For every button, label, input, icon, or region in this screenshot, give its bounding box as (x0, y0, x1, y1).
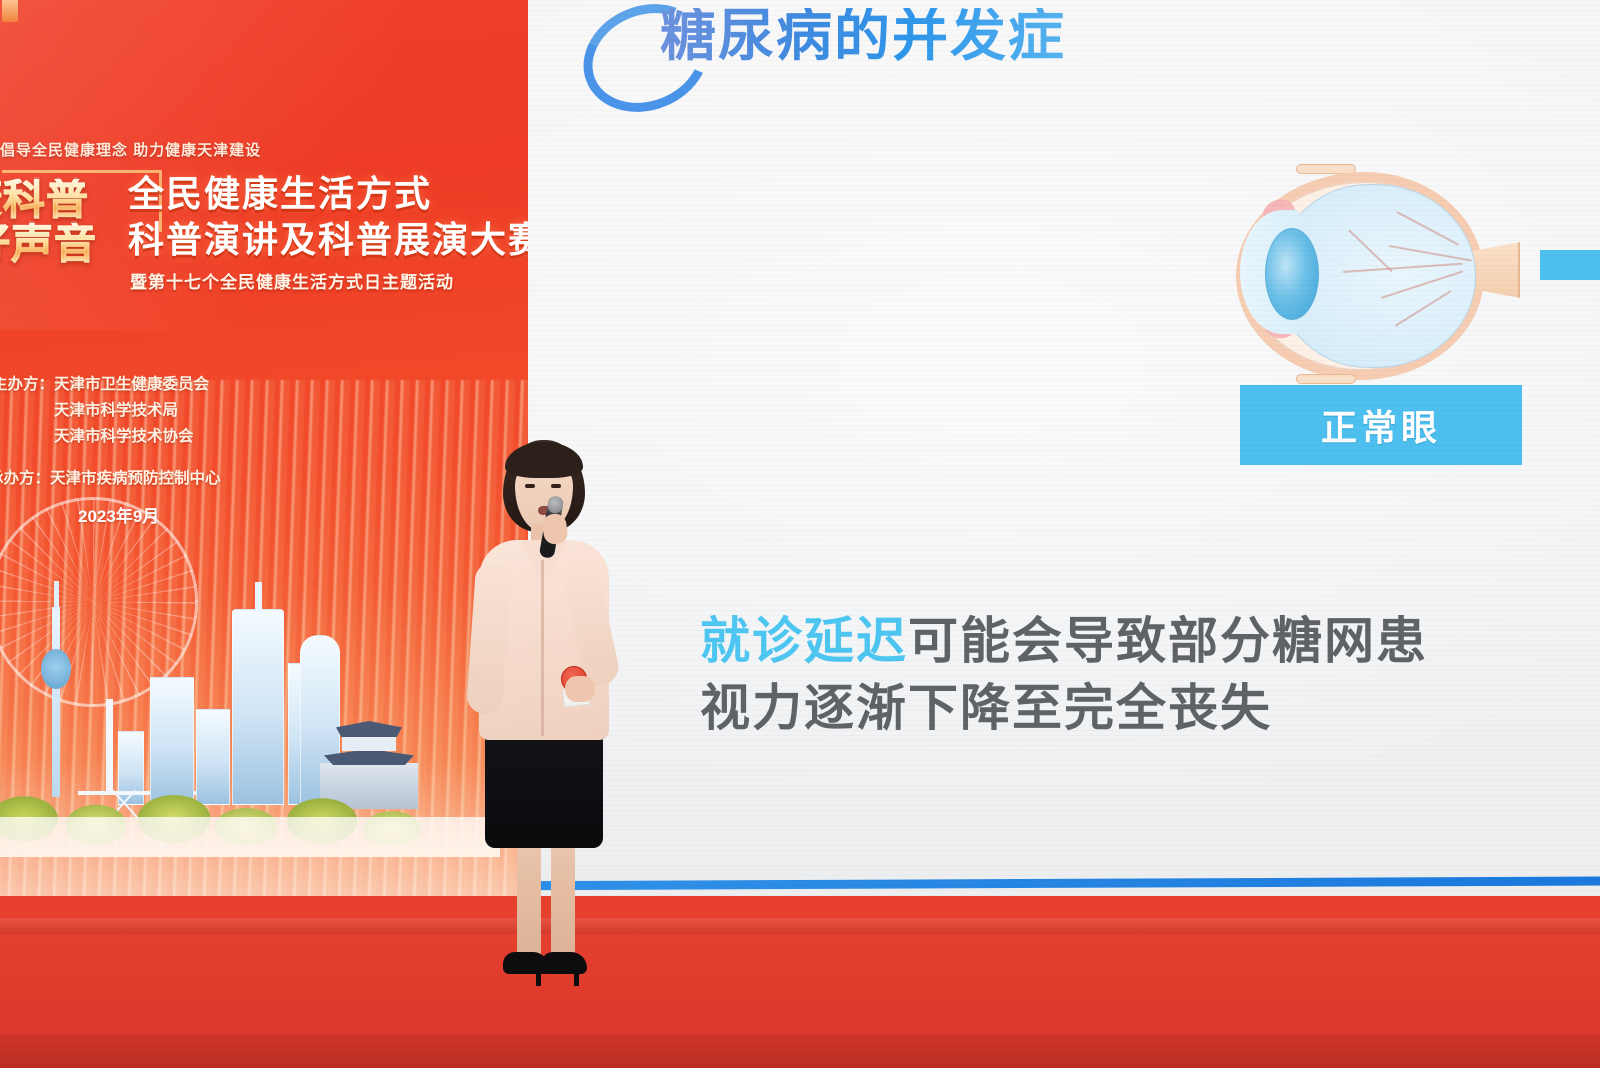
eye-muscle-bottom (1296, 374, 1356, 384)
carpet-front-edge (0, 1034, 1600, 1068)
banner-organizers: 主办方：天津市卫生健康委员会 天津市科学技术局 天津市科学技术协会 (0, 372, 292, 450)
caption-highlight: 就诊延迟 (700, 613, 908, 669)
retinal-vessel (1343, 263, 1463, 273)
banner-corner-mark (2, 0, 18, 22)
banner-tagline: 倡导全民健康理念 助力健康天津建设 (0, 139, 300, 160)
leg-left (517, 842, 541, 960)
leg-right (551, 842, 575, 960)
red-carpet-stage-floor (0, 896, 1600, 1068)
female-speaker (455, 440, 635, 1000)
blouse-placket (541, 560, 544, 736)
retinal-vessel (1389, 245, 1472, 261)
retinal-vessel (1381, 270, 1463, 298)
banner-host: 承办方：天津市疾病预防控制中心 (0, 466, 308, 488)
eye-lens (1265, 228, 1319, 320)
hand-lower (565, 676, 595, 702)
carpet-fold (0, 918, 1600, 934)
right-arrow-icon (1540, 250, 1600, 280)
eye-figure-label: 正常眼 (1240, 385, 1522, 465)
banner-subtitle: 暨第十七个全民健康生活方式日主题活动 (130, 268, 454, 293)
organizer-line-3: 天津市科学技术协会 (0, 424, 292, 450)
retinal-vessel (1395, 290, 1452, 326)
caption-line2: 视力逐渐下降至完全丧失 (700, 675, 1600, 742)
event-backdrop-banner: 倡导全民健康理念 助力健康天津建设 康科普 好声音 全民健康生活方式 科普演讲及… (0, 0, 528, 905)
gate-roof-upper (336, 721, 402, 737)
tianjin-skyline-illustration (0, 517, 480, 857)
normal-eye-anatomy-illustration (1218, 158, 1518, 394)
eye-left (525, 484, 535, 488)
banner-title-line-2: 科普演讲及科普展演大赛 (128, 222, 528, 258)
slide-title: 糖尿病的并发症 (660, 8, 1066, 64)
banner-title-line-1: 全民健康生活方式 (128, 176, 432, 212)
ferris-wheel-icon (0, 497, 198, 707)
retinal-vessel (1348, 229, 1392, 272)
shoe-right (541, 952, 587, 974)
organizer-line-1: 主办方：天津市卫生健康委员会 (0, 372, 292, 398)
waterfront (0, 817, 500, 857)
eye-right (551, 484, 561, 488)
organizer-line-2: 天津市科学技术局 (0, 398, 292, 424)
slide-caption: 就诊延迟可能会导致部分糖网患 视力逐渐下降至完全丧失 (700, 608, 1600, 742)
hair-fringe (505, 442, 583, 478)
conference-stage-photo: 糖尿病的并发症 正常眼 就诊延迟可能会导致部分糖网患 (0, 0, 1600, 1068)
caption-line1-rest: 可能会导致部分糖网患 (908, 613, 1428, 669)
retinal-vessel (1397, 211, 1460, 245)
